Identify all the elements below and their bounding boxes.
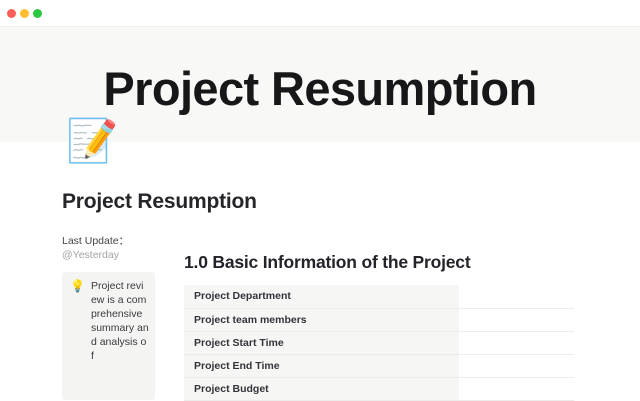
table-cell-label[interactable]: Project team members <box>184 308 459 331</box>
minimize-window-button[interactable] <box>20 9 29 18</box>
table-row[interactable]: Project team members <box>184 308 574 331</box>
last-update-value[interactable]: @Yesterday <box>62 248 129 262</box>
callout-block[interactable]: 💡 Project review is a comprehensive summ… <box>62 272 155 400</box>
table-cell-value[interactable] <box>459 354 574 377</box>
table-cell-label[interactable]: Project Budget <box>184 377 459 400</box>
table-cell-label[interactable]: Project End Time <box>184 354 459 377</box>
hero-title: Project Resumption <box>0 65 640 112</box>
table-cell-value[interactable] <box>459 331 574 354</box>
table-body: Project DepartmentProject team membersPr… <box>184 285 574 400</box>
traffic-light-group <box>7 9 42 18</box>
table-cell-value[interactable] <box>459 285 574 308</box>
table-cell-value[interactable] <box>459 308 574 331</box>
callout-text: Project review is a comprehensive summar… <box>91 279 149 392</box>
window-title-bar <box>0 0 640 27</box>
last-update-meta: Last Update： @Yesterday <box>62 234 129 262</box>
basic-information-table: Project DepartmentProject team membersPr… <box>184 285 574 401</box>
last-update-label: Last Update： <box>62 234 129 248</box>
table-row[interactable]: Project End Time <box>184 354 574 377</box>
table-cell-label[interactable]: Project Start Time <box>184 331 459 354</box>
table-cell-value[interactable] <box>459 377 574 400</box>
table-cell-label[interactable]: Project Department <box>184 285 459 308</box>
memo-emoji-icon[interactable]: 📝 <box>66 120 118 162</box>
close-window-button[interactable] <box>7 9 16 18</box>
table-row[interactable]: Project Start Time <box>184 331 574 354</box>
maximize-window-button[interactable] <box>33 9 42 18</box>
section-heading-basic-information: 1.0 Basic Information of the Project <box>184 252 470 273</box>
table-row[interactable]: Project Budget <box>184 377 574 400</box>
page-title: Project Resumption <box>62 190 257 214</box>
table-row[interactable]: Project Department <box>184 285 574 308</box>
lightbulb-emoji-icon: 💡 <box>70 279 85 392</box>
